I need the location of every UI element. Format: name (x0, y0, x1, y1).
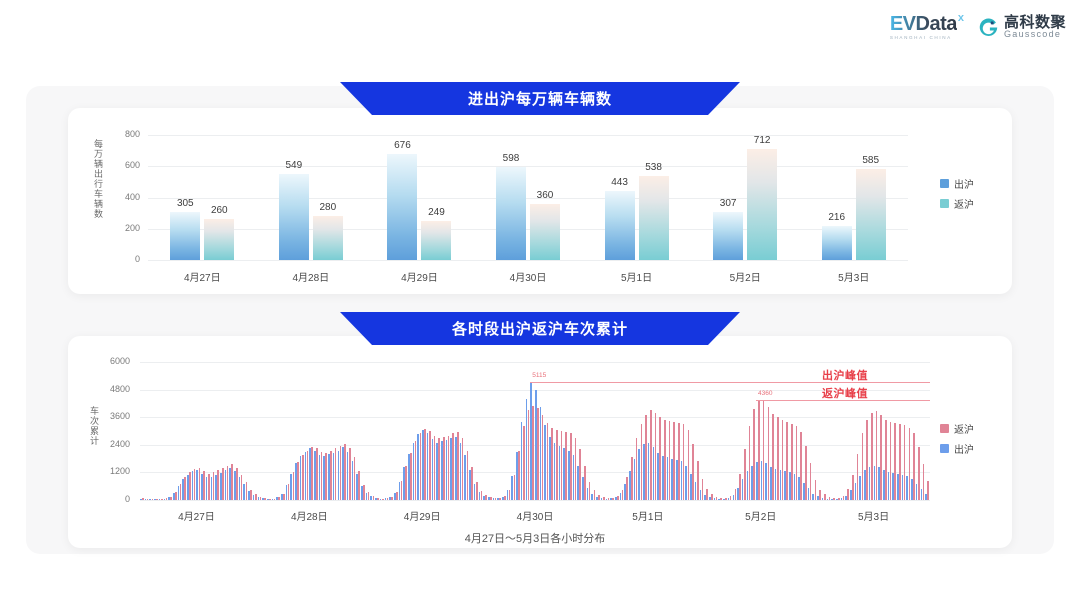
chart2-hour-bar-back (913, 433, 915, 500)
chart2-hour-bar-back (838, 498, 840, 500)
chart2-hour-bar-back (438, 438, 440, 500)
chart2-hour-bar-back (678, 423, 680, 500)
chart2-hour-bar-back (260, 497, 262, 500)
chart2-hour-bar-back (391, 497, 393, 500)
chart2-hour-bar-back (382, 499, 384, 501)
chart2-legend-item[interactable]: 出沪 (940, 441, 974, 456)
chart2-hour-bar-back (528, 410, 530, 500)
chart2-hour-bar-back (373, 496, 375, 500)
chart2-hour-bar-back (711, 494, 713, 500)
chart2-hour-bar-back (495, 498, 497, 500)
gausscode-g-icon (978, 17, 999, 38)
chart2-hour-bar-back (283, 494, 285, 500)
chart2-hour-bar-back (142, 498, 144, 500)
chart2-hour-bar-back (815, 480, 817, 500)
chart2-hour-bar-back (810, 463, 812, 500)
gausscode-name-en: Gausscode (1004, 30, 1066, 39)
chart2-hour-bar-back (777, 417, 779, 500)
chart1-legend-item[interactable]: 出沪 (940, 176, 974, 191)
chart2-x-tick: 5月2日 (716, 508, 806, 523)
chart2-hour-bar-back (264, 498, 266, 500)
chart1-bar (605, 191, 635, 260)
chart1-bar (639, 176, 669, 260)
chart2-hour-bar-back (368, 492, 370, 500)
chart2-hour-bar-back (697, 461, 699, 500)
chart2-hour-bar-back (236, 468, 238, 500)
chart2-hour-bar-back (622, 490, 624, 500)
chart2-peak-value-back: 4360 (758, 390, 772, 397)
chart2-hour-bar-back (617, 496, 619, 500)
chart2-hour-bar-back (744, 449, 746, 500)
chart2-hour-bar-back (434, 436, 436, 500)
chart2-hour-bar-back (871, 413, 873, 500)
chart2-hour-bar-back (175, 492, 177, 500)
chart1-y-tick: 200 (106, 223, 140, 233)
chart2-hour-bar-back (692, 444, 694, 500)
chart1-bar (387, 154, 417, 260)
chart1-y-tick: 400 (106, 192, 140, 202)
chart1-gridline (148, 229, 908, 230)
chart2-hour-bar-back (161, 499, 163, 500)
chart2-hour-bar-back (537, 408, 539, 500)
chart2-hour-bar-back (636, 438, 638, 500)
chart2-hour-bar-back (702, 479, 704, 500)
chart2-hour-bar-back (250, 490, 252, 500)
chart2-hour-bar-back (659, 417, 661, 500)
chart2-hour-bar-back (730, 496, 732, 500)
chart1-x-tick: 5月2日 (700, 269, 790, 284)
chart1-bar (279, 174, 309, 260)
chart2-hour-bar-back (278, 497, 280, 500)
chart2-legend-item[interactable]: 返沪 (940, 421, 974, 436)
chart1-bar (530, 204, 560, 260)
chart2-hour-bar-back (918, 447, 920, 500)
chart1-y-tick: 800 (106, 129, 140, 139)
chart2-hour-bar-back (551, 428, 553, 500)
chart2-hour-bar-back (217, 470, 219, 500)
chart2-hour-bar-back (156, 499, 158, 500)
chart1-bar (313, 216, 343, 260)
chart2-hour-bar-back (909, 428, 911, 500)
chart2-hour-bar-back (307, 451, 309, 500)
chart2-hour-bar-back (584, 466, 586, 501)
chart2-hour-bar-back (269, 499, 271, 500)
chart2-hour-bar-back (768, 407, 770, 500)
chart1-x-tick: 4月27日 (157, 269, 247, 284)
chart2-hour-bar-back (758, 400, 760, 500)
chart2-hour-bar-back (424, 429, 426, 500)
chart2-hour-bar-back (222, 468, 224, 500)
chart2-hour-bar-back (594, 490, 596, 500)
chart2-hour-bar-back (824, 494, 826, 500)
chart2-hour-bar-back (344, 444, 346, 500)
chart1-bar (421, 221, 451, 260)
chart2-hour-bar-back (363, 485, 365, 500)
chart1-bar (496, 167, 526, 260)
chart2-hour-bar-back (805, 446, 807, 500)
chart1-bar-value: 585 (851, 155, 891, 166)
chart2-hour-bar-back (890, 422, 892, 500)
chart2-hour-bar-back (231, 464, 233, 500)
chart2-hour-bar-back (358, 471, 360, 500)
chart1-bar-value: 249 (416, 207, 456, 218)
chart1-bar-value: 598 (491, 153, 531, 164)
chart2-gridline (140, 362, 930, 363)
chart2-hour-bar-back (782, 420, 784, 501)
chart2-hour-bar-back (716, 497, 718, 500)
chart2-hour-bar-back (274, 499, 276, 501)
chart1-y-tick: 0 (106, 254, 140, 264)
chart2-y-tick: 6000 (96, 356, 130, 366)
chart2-hour-bar-back (542, 415, 544, 500)
chart1-bar (856, 169, 886, 260)
chart2-hour-bar-back (791, 424, 793, 500)
chart2-hour-bar-back (490, 497, 492, 500)
chart1-legend-label: 出沪 (954, 176, 974, 191)
chart1-x-tick: 4月29日 (374, 269, 464, 284)
chart2-hour-bar-back (180, 484, 182, 500)
chart2-x-tick: 4月29日 (377, 508, 467, 523)
header-logos: EVData x SHANGHAI CHINA 高科数聚 Gausscode (890, 14, 1066, 41)
chart2-hour-bar-back (688, 430, 690, 500)
chart2-legend-label: 返沪 (954, 421, 974, 436)
chart2-hour-bar-back (753, 409, 755, 500)
chart2-hour-bar-back (457, 432, 459, 500)
chart2-hour-bar-back (763, 401, 765, 500)
chart2-x-tick: 4月30日 (490, 508, 580, 523)
chart1-x-tick: 4月30日 (483, 269, 573, 284)
chart2-hour-bar-back (509, 490, 511, 500)
chart2-hour-bar-back (194, 469, 196, 500)
chart2-hour-bar-back (819, 490, 821, 500)
chart2-hour-bar-back (255, 494, 257, 500)
chart1-bar-value: 443 (600, 177, 640, 188)
chart2-hour-bar-back (471, 467, 473, 500)
chart2-hour-bar-back (626, 477, 628, 500)
chart2-hour-bar-back (885, 420, 887, 501)
chart1-gridline (148, 135, 908, 136)
chart2-x-tick: 5月1日 (603, 508, 693, 523)
legend-swatch-icon (940, 179, 949, 188)
chart2-hour-bar-back (514, 475, 516, 500)
chart2-hour-bar-back (725, 498, 727, 500)
legend-swatch-icon (940, 424, 949, 433)
chart2-y-tick: 3600 (96, 411, 130, 421)
chart1-bar (747, 149, 777, 260)
chart2-peak-value-out: 5115 (532, 372, 546, 379)
evdata-logo-text: EVData (890, 14, 957, 34)
chart2-hour-bar-back (208, 474, 210, 500)
evdata-logo-tagline: SHANGHAI CHINA (890, 36, 952, 41)
chart2-hour-bar-back (579, 449, 581, 500)
chart2-hour-bar-back (340, 446, 342, 500)
chart2-hour-bar-back (213, 472, 215, 500)
chart2-x-axis-caption: 4月27日～5月3日各小时分布 (140, 530, 930, 546)
chart2-hour-bar-back (589, 482, 591, 500)
chart2-hour-bar-back (829, 497, 831, 500)
chart2-hour-bar-back (739, 474, 741, 500)
chart2-legend-label: 出沪 (954, 441, 974, 456)
chart2-hour-bar-back (152, 499, 154, 500)
chart-title-banner-2: 各时段出沪返沪车次累计 (340, 312, 740, 345)
chart2-hour-bar-back (321, 452, 323, 500)
chart2-hour-bar-back (476, 482, 478, 500)
chart2-y-tick: 0 (96, 494, 130, 504)
chart1-gridline (148, 260, 908, 261)
chart2-hour-bar-back (603, 497, 605, 500)
chart2-peak-label-back: 返沪峰值 (822, 385, 868, 401)
gausscode-logo: 高科数聚 Gausscode (978, 15, 1066, 40)
chart2-hour-bar-back (561, 431, 563, 500)
chart1-bar (822, 226, 852, 260)
chart2-hour-bar-back (880, 415, 882, 500)
chart2-hour-bar-back (556, 430, 558, 500)
chart1-bar (204, 219, 234, 260)
chart2-hour-bar-back (796, 426, 798, 500)
chart2-hour-bar-back (311, 447, 313, 500)
chart1-x-tick: 5月3日 (809, 269, 899, 284)
chart2-hour-bar-back (862, 433, 864, 500)
chart2-hour-bar-back (377, 498, 379, 500)
chart2-hour-bar-back (833, 498, 835, 500)
chart2-x-tick: 4月27日 (151, 508, 241, 523)
chart1-x-tick: 5月1日 (592, 269, 682, 284)
chart2-hour-bar-back (645, 415, 647, 500)
chart1-legend: 出沪 返沪 (940, 176, 974, 211)
chart1-bar-value: 307 (708, 198, 748, 209)
chart2-hour-bar-back (523, 426, 525, 500)
chart1-bar-value: 676 (382, 140, 422, 151)
chart2-hour-bar-back (420, 433, 422, 500)
chart1-bar-value: 216 (817, 212, 857, 223)
chart2-hour-bar-back (847, 489, 849, 500)
chart2-hour-bar-back (655, 413, 657, 500)
chart2-hour-bar-back (354, 457, 356, 500)
chart2-hour-bar-back (246, 482, 248, 500)
chart1-bar-value: 538 (634, 162, 674, 173)
chart2-legend: 返沪 出沪 (940, 421, 974, 456)
chart2-hour-bar-back (405, 466, 407, 501)
chart2-hour-bar-back (650, 410, 652, 500)
chart2-hour-bar-back (325, 453, 327, 500)
chart2-hour-bar-back (575, 438, 577, 500)
chart2-hour-bar-back (481, 491, 483, 500)
chart2-y-tick: 1200 (96, 466, 130, 476)
chart2-hour-bar-back (876, 411, 878, 500)
legend-swatch-icon (940, 444, 949, 453)
chart1-x-tick: 4月28日 (266, 269, 356, 284)
chart2-hour-bar-back (241, 475, 243, 500)
chart2-hour-bar-back (316, 448, 318, 500)
chart2-y-tick: 2400 (96, 439, 130, 449)
chart2-hour-bar-back (786, 422, 788, 500)
chart2-hour-bar-back (401, 481, 403, 500)
gausscode-name-cn: 高科数聚 (1004, 15, 1066, 31)
chart2-hour-bar-back (735, 489, 737, 500)
chart2-hour-bar-back (904, 425, 906, 500)
chart2-hour-bar-back (467, 451, 469, 500)
chart1-bar (170, 212, 200, 260)
chart1-legend-label: 返沪 (954, 196, 974, 211)
chart2-hour-bar-back (664, 420, 666, 501)
evdata-logo-superscript: x (958, 13, 964, 24)
chart2-hour-bar-back (387, 498, 389, 500)
chart2-hour-bar-back (462, 438, 464, 500)
chart2-hour-bar-back (184, 477, 186, 500)
chart2-gridline (140, 500, 930, 501)
chart2-hour-bar-back (673, 422, 675, 500)
chart1-bar-value: 360 (525, 190, 565, 201)
chart2-hour-bar-back (293, 472, 295, 500)
chart2-hour-bar-back (166, 498, 168, 500)
chart2-hour-bar-back (570, 433, 572, 500)
chart2-x-tick: 4月28日 (264, 508, 354, 523)
chart1-bar-value: 260 (199, 205, 239, 216)
chart1-gridline (148, 166, 908, 167)
chart1-legend-item[interactable]: 返沪 (940, 196, 974, 211)
chart2-hour-bar-back (302, 455, 304, 500)
chart2-hour-bar-back (485, 495, 487, 500)
chart2-hour-bar-back (147, 499, 149, 500)
chart2-hour-bar-back (349, 448, 351, 500)
chart2-peak-line-out (530, 382, 930, 383)
chart2-hour-bar-back (499, 498, 501, 500)
evdata-logo: EVData x SHANGHAI CHINA (890, 14, 964, 41)
chart2-y-tick: 4800 (96, 384, 130, 394)
chart2-hour-bar-back (800, 432, 802, 500)
chart2-hour-bar-back (227, 466, 229, 501)
chart2-hour-bar-back (429, 431, 431, 500)
chart2-hour-bar-back (504, 496, 506, 500)
chart2-hour-bar-back (565, 432, 567, 500)
chart2-hour-bar-back (899, 424, 901, 500)
chart1-bar (713, 212, 743, 260)
chart2-hour-bar-back (396, 492, 398, 500)
chart2-hour-bar-back (448, 436, 450, 500)
chart2-hour-bar-back (532, 406, 534, 500)
chart2-hour-bar-back (927, 481, 929, 500)
chart1-y-axis-label: 每万辆出行车辆数 (92, 139, 105, 264)
legend-swatch-icon (940, 199, 949, 208)
chart2-hour-bar-back (288, 484, 290, 500)
chart2-hour-bar-back (852, 475, 854, 500)
chart2-hour-bar-back (608, 498, 610, 500)
chart2-peak-label-out: 出沪峰值 (822, 367, 868, 383)
chart2-x-tick: 5月3日 (829, 508, 919, 523)
chart2-hour-bar-back (518, 451, 520, 500)
chart2-hour-bar-back (203, 471, 205, 500)
chart2-hour-bar-back (720, 498, 722, 500)
chart2-hour-bar-back (683, 424, 685, 500)
chart2-hour-bar-back (415, 441, 417, 500)
chart2-hour-bar-back (452, 433, 454, 500)
chart2-hour-bar-back (330, 451, 332, 500)
chart2-hour-bar-back (772, 414, 774, 500)
chart2-hour-bar-back (547, 423, 549, 500)
chart2-hour-bar-back (598, 495, 600, 500)
chart2-hour-bar-back (866, 420, 868, 501)
chart-title-banner-1: 进出沪每万辆车辆数 (340, 82, 740, 115)
chart2-hour-bar-back (669, 421, 671, 500)
chart2-hour-bar-back (170, 497, 172, 500)
chart2-hour-bar-back (189, 472, 191, 500)
chart2-hour-bar-back (297, 462, 299, 500)
chart2-hour-bar-back (843, 496, 845, 500)
chart2-hour-bar-back (749, 426, 751, 500)
chart1-y-tick: 600 (106, 160, 140, 170)
chart2-hour-bar-back (641, 424, 643, 500)
chart2-hour-bar-back (857, 454, 859, 500)
chart1-bar-value: 280 (308, 202, 348, 213)
chart2-hour-bar-back (410, 453, 412, 500)
chart2-hour-bar-back (199, 468, 201, 500)
slide-page: EVData x SHANGHAI CHINA 高科数聚 Gausscode 进… (0, 0, 1080, 608)
chart2-hour-bar-back (894, 423, 896, 500)
chart2-hour-bar-back (923, 464, 925, 500)
chart1-bar-value: 549 (274, 160, 314, 171)
chart1-bar-value: 712 (742, 135, 782, 146)
chart2-hour-bar-back (631, 457, 633, 500)
chart2-hour-bar-back (612, 498, 614, 500)
chart2-hour-bar-back (443, 437, 445, 500)
chart2-hour-bar-back (706, 489, 708, 500)
chart2-hour-bar-back (335, 448, 337, 500)
